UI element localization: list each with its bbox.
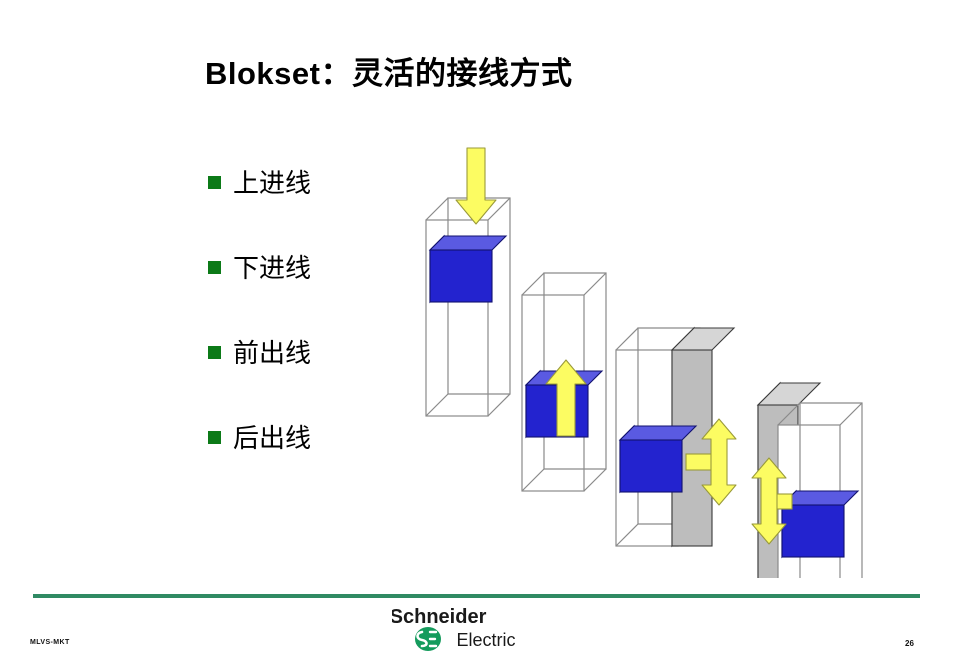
list-item: 后出线 — [208, 395, 408, 480]
list-item-label: 前出线 — [233, 340, 311, 366]
green-square-bullet-icon — [208, 346, 221, 359]
brand-name-bottom: Electric — [456, 630, 515, 650]
green-square-bullet-icon — [208, 176, 221, 189]
figure-top-entry — [426, 148, 510, 416]
green-square-bullet-icon — [208, 261, 221, 274]
list-item: 下进线 — [208, 225, 408, 310]
footer-tag: MLVS-MKT — [30, 639, 70, 646]
brand-mark-icon — [415, 627, 441, 651]
blue-cube-icon — [430, 236, 506, 302]
green-square-bullet-icon — [208, 431, 221, 444]
figure-rear-exit — [752, 383, 862, 578]
list-item-label: 后出线 — [233, 425, 311, 451]
list-item-label: 上进线 — [233, 170, 311, 196]
list-item-label: 下进线 — [233, 255, 311, 281]
footer-divider — [33, 594, 920, 598]
brand-name-top: Schneider — [392, 606, 487, 628]
list-item: 上进线 — [208, 140, 408, 225]
blue-cube-icon — [782, 491, 858, 557]
schneider-electric-logo: Schneider Electric — [392, 604, 532, 654]
down-arrow-icon — [456, 148, 496, 224]
page-title: Blokset：灵活的接线方式 — [205, 48, 572, 93]
figure-bottom-entry — [522, 273, 606, 491]
cabinet-diagram-group — [400, 138, 870, 578]
list-item: 前出线 — [208, 310, 408, 395]
page-number: 26 — [905, 639, 914, 648]
figure-front-exit — [616, 328, 736, 546]
slide-root: Blokset：灵活的接线方式 上进线 下进线 前出线 后出线 — [0, 0, 953, 660]
bullet-list: 上进线 下进线 前出线 后出线 — [208, 140, 408, 480]
cabinet-wireframe-icon — [426, 198, 510, 416]
